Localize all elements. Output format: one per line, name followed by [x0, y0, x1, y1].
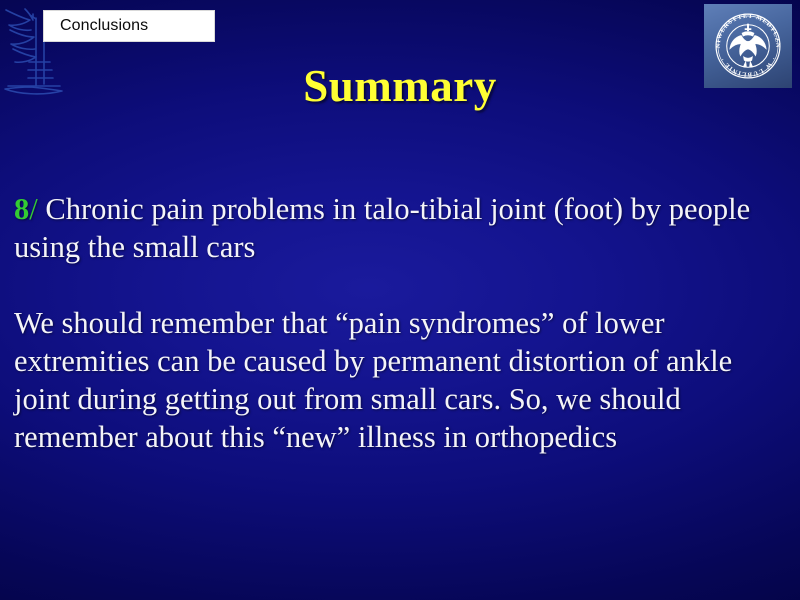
section-tab-conclusions[interactable]: Conclusions	[43, 10, 215, 42]
slide-body: 8/ Chronic pain problems in talo-tibial …	[14, 190, 790, 456]
conclusion-point: 8/ Chronic pain problems in talo-tibial …	[14, 190, 790, 266]
conclusion-point-separator: /	[29, 192, 37, 226]
section-tab-label: Conclusions	[44, 17, 148, 35]
conclusion-point-number: 8	[14, 192, 29, 226]
conclusion-paragraph: We should remember that “pain syndromes”…	[14, 304, 790, 456]
page-title: Summary	[0, 60, 800, 112]
conclusion-point-text: Chronic pain problems in talo-tibial joi…	[14, 192, 750, 264]
presentation-slide: Conclusions UNIWERSYTET MEDYCZNY · W LUB…	[0, 0, 800, 600]
